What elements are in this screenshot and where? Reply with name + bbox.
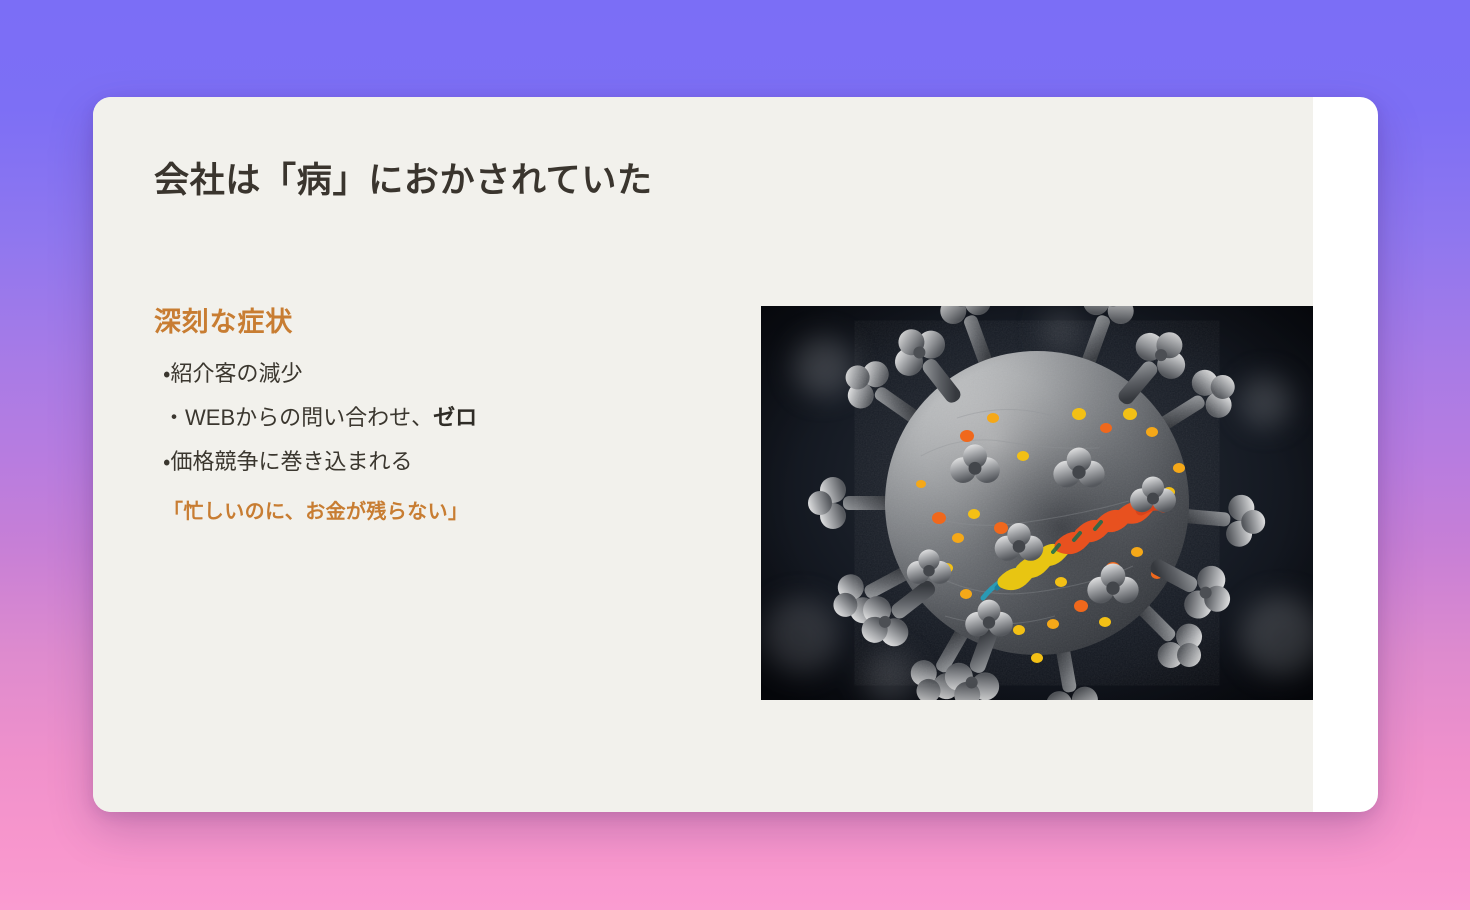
list-item: ・WEBからの問い合わせ、ゼロ [154,407,714,429]
symptom-list: ・紹介客の減少 ・WEBからの問い合わせ、ゼロ ・価格競争に巻き込まれる [154,363,714,473]
list-item-label: 紹介客の減少 [170,361,302,386]
slide-canvas: 会社は「病」におかされていた 深刻な症状 ・紹介客の減少 ・WEBからの問い合わ… [93,97,1313,812]
list-item: ・紹介客の減少 [154,363,714,385]
list-item-bullet: ・ [163,405,185,430]
symptoms-section: 深刻な症状 ・紹介客の減少 ・WEBからの問い合わせ、ゼロ ・価格競争に巻き込ま… [154,300,714,524]
list-item-label: 価格競争に巻き込まれる [170,449,412,474]
section-heading: 深刻な症状 [154,300,714,339]
list-item-label: WEBからの問い合わせ、 [185,405,433,430]
page-title: 会社は「病」におかされていた [154,152,653,203]
virus-particle-icon [761,306,1313,700]
list-item-emphasis: ゼロ [433,405,477,430]
list-item: ・価格競争に巻き込まれる [154,451,714,473]
pull-quote: 「忙しいのに、お金が残らない」 [154,495,714,524]
slide-content: 会社は「病」におかされていた 深刻な症状 ・紹介客の減少 ・WEBからの問い合わ… [93,97,1313,812]
virus-image [761,306,1313,700]
